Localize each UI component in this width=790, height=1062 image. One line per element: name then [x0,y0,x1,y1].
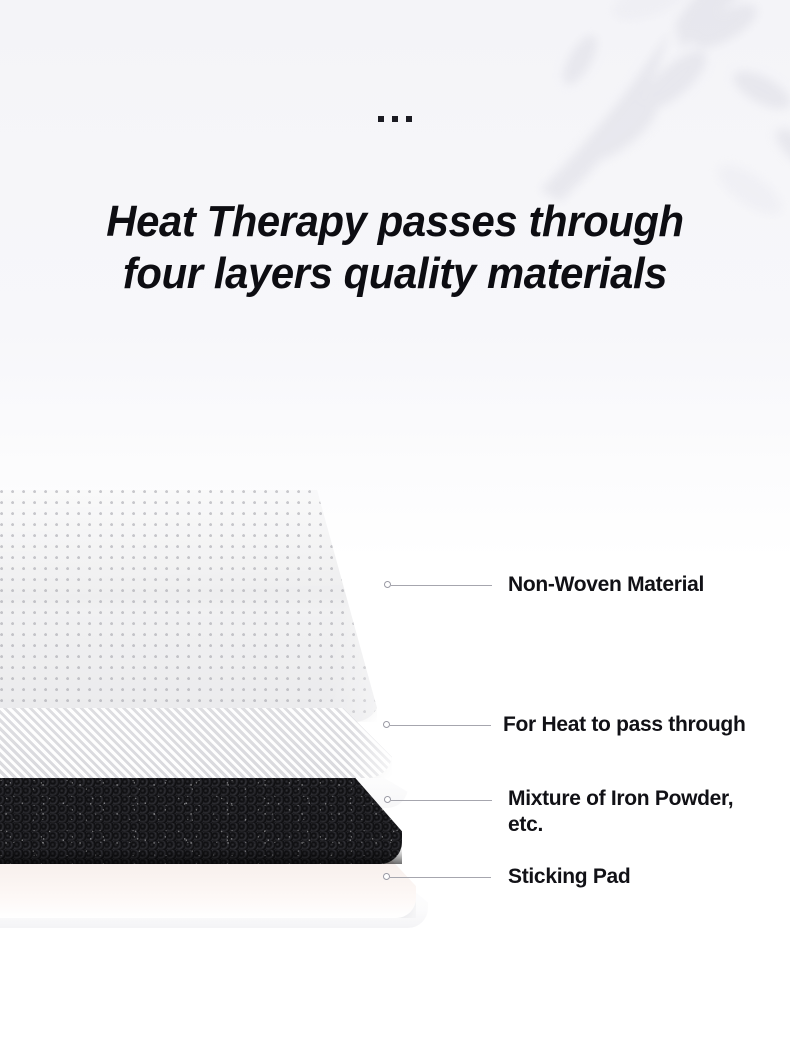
product-infographic-page: Heat Therapy passes through four layers … [0,0,790,1062]
callout-leader-line [391,585,492,586]
callout-label-sticking-pad: Sticking Pad [508,864,630,890]
callout-label-heat-pass: For Heat to pass through [503,712,745,738]
page-title-line-2: four layers quality materials [20,248,771,300]
callout-dot-icon [383,873,390,880]
page-title-line-1: Heat Therapy passes through [20,196,771,248]
callout-dot-icon [384,581,391,588]
layer-heat-pass [0,708,392,778]
callout-dot-icon [384,796,391,803]
callout-dot-icon [383,721,390,728]
layer-stack-illustration [0,470,470,940]
callout-leader-line [390,877,491,878]
callout-label-non-woven: Non-Woven Material [508,572,704,598]
layer-non-woven [0,490,380,722]
layer-iron-powder [0,778,402,864]
callout-label-iron-powder: Mixture of Iron Powder, etc. [508,786,733,838]
callout-leader-line [391,800,492,801]
page-title: Heat Therapy passes through four layers … [20,196,771,300]
callout-leader-line [390,725,491,726]
